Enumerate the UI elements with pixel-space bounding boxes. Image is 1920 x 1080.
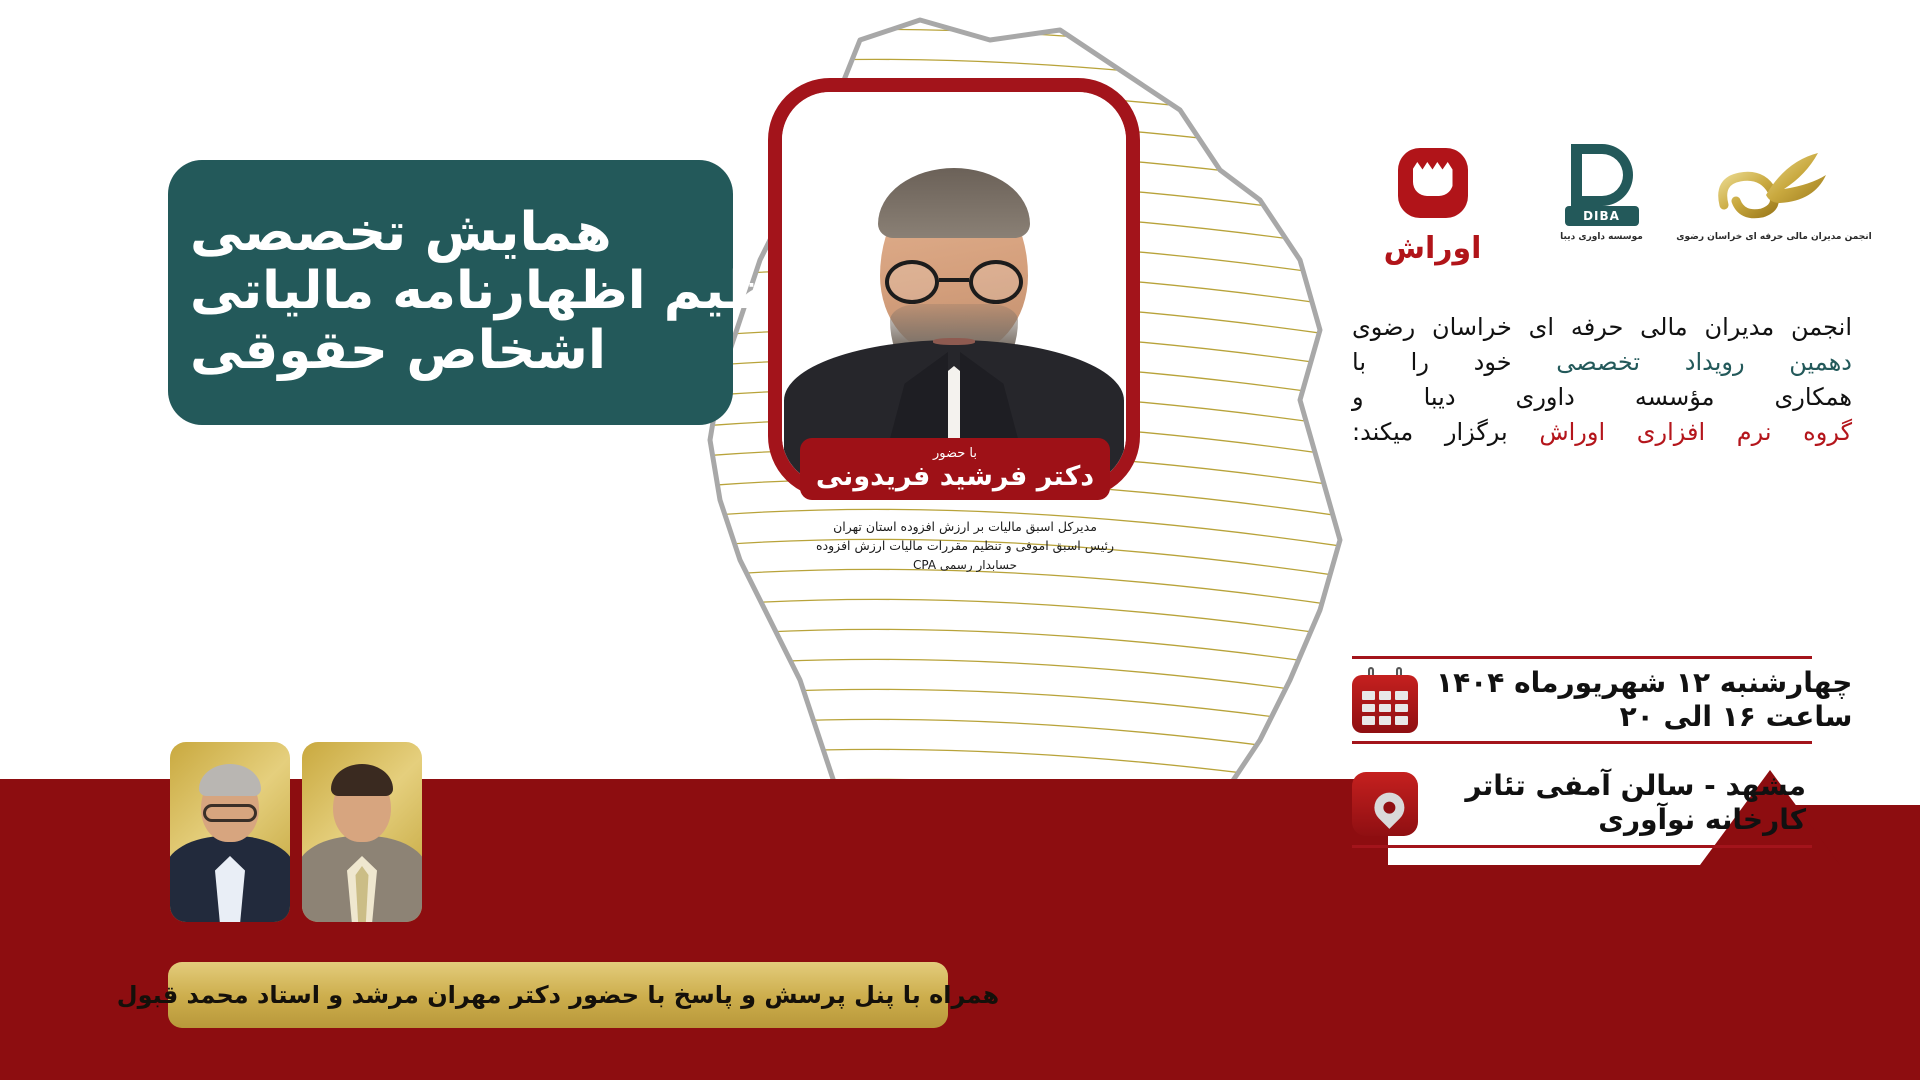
event-date-line-2: ساعت ۱۶ الی ۲۰ (1436, 700, 1852, 734)
event-location-block: مشهد - سالن آمفی تئاتر کارخانه نوآوری (1352, 760, 1812, 848)
title-line-2: تنظیم اظهارنامه مالیاتی (190, 263, 817, 319)
logo-association[interactable]: انجمن مدیران مالی حرفه ای خراسان رضوی (1708, 140, 1840, 243)
event-date-text: چهارشنبه ۱۲ شهریورماه ۱۴۰۴ ساعت ۱۶ الی ۲… (1436, 666, 1852, 733)
event-poster: همایش تخصصی تنظیم اظهارنامه مالیاتی اشخا… (0, 0, 1920, 1080)
logo-diba[interactable]: DIBA موسسه داوری دیبا (1539, 140, 1664, 243)
oorash-mark-icon (1398, 140, 1468, 226)
calendar-icon (1352, 667, 1418, 733)
event-location-text: مشهد - سالن آمفی تئاتر کارخانه نوآوری (1436, 769, 1806, 836)
association-mark-icon (1714, 140, 1834, 226)
description-line-2-highlight: دهمین رویداد تخصصی (1556, 348, 1852, 376)
hair-shape (878, 168, 1030, 238)
glasses-bridge (939, 278, 969, 282)
speaker-prefix: با حضور (933, 447, 977, 460)
logo-oorash[interactable]: اوراش (1370, 140, 1495, 264)
description-line-2-rest: خود را با (1352, 348, 1512, 376)
lens-left (885, 260, 939, 304)
event-location-line-1: مشهد - سالن آمفی تئاتر (1436, 769, 1806, 803)
diba-mark-icon: DIBA (1563, 140, 1641, 226)
description-line-1: انجمن مدیران مالی حرفه ای خراسان رضوی (1352, 310, 1852, 345)
sponsor-logos: اوراش DIBA موسسه داوری دیبا (1370, 140, 1840, 280)
mouth-shape (933, 338, 975, 345)
diba-caption: موسسه داوری دیبا (1560, 232, 1643, 243)
event-location-line-2: کارخانه نوآوری (1436, 803, 1806, 837)
oorash-wordmark: اوراش (1384, 234, 1482, 264)
panel-qa-banner: همراه با پنل پرسش و پاسخ با حضور دکتر مه… (168, 962, 948, 1028)
speaker-name: دکتر فرشید فریدونی (816, 463, 1094, 490)
panel-qa-banner-text: همراه با پنل پرسش و پاسخ با حضور دکتر مه… (117, 981, 999, 1009)
credential-line-1: مدیرکل اسبق مالیات بر ارزش افزوده استان … (800, 518, 1130, 537)
speaker-credentials: مدیرکل اسبق مالیات بر ارزش افزوده استان … (800, 518, 1130, 574)
description-line-4-rest: برگزار میکند: (1352, 418, 1508, 446)
description-line-4-highlight: گروه نرم افزاری اوراش (1539, 418, 1852, 446)
association-caption: انجمن مدیران مالی حرفه ای خراسان رضوی (1676, 232, 1871, 243)
title-line-3: اشخاص حقوقی (190, 322, 606, 379)
title-line-1: همایش تخصصی (190, 204, 612, 261)
event-date-block: چهارشنبه ۱۲ شهریورماه ۱۴۰۴ ساعت ۱۶ الی ۲… (1352, 656, 1812, 744)
credential-line-2: رئیس اسبق اموفی و تنظیم مقررات مالیات ار… (800, 537, 1130, 556)
organizer-description: انجمن مدیران مالی حرفه ای خراسان رضوی ده… (1352, 310, 1852, 450)
event-title-card: همایش تخصصی تنظیم اظهارنامه مالیاتی اشخا… (168, 160, 733, 425)
description-line-3: همکاری مؤسسه داوری دیبا و (1352, 380, 1852, 415)
speaker-name-plate: با حضور دکتر فرشید فریدونی (800, 438, 1110, 500)
location-pin-icon (1352, 770, 1418, 836)
panelist-photo-2 (170, 742, 290, 922)
lens-right (969, 260, 1023, 304)
diba-badge-label: DIBA (1565, 206, 1639, 226)
credential-line-3: حسابدار رسمی CPA (800, 556, 1130, 574)
speaker-portrait-frame (768, 78, 1140, 498)
glasses-icon (885, 260, 1023, 304)
panelist-photo-1 (302, 742, 422, 922)
panelist-photos (170, 742, 422, 922)
speaker-photo (782, 92, 1126, 484)
event-date-line-1: چهارشنبه ۱۲ شهریورماه ۱۴۰۴ (1436, 666, 1852, 700)
description-line-4: گروه نرم افزاری اوراش برگزار میکند: (1352, 415, 1852, 450)
description-line-2: دهمین رویداد تخصصی خود را با (1352, 345, 1852, 380)
